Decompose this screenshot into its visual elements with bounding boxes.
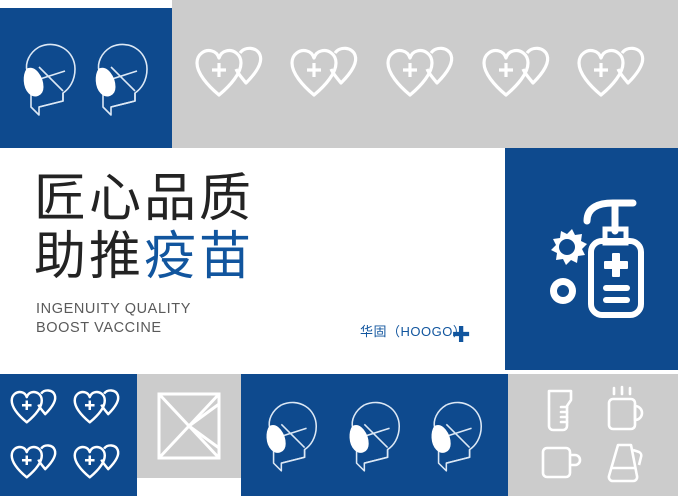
- english-subtitle: INGENUITY QUALITY BOOST VACCINE: [36, 300, 191, 338]
- top-gray-band: [172, 0, 678, 148]
- kettle-pot-icon: [603, 440, 649, 484]
- measuring-beaker-icon: [541, 386, 581, 432]
- double-heart-plus-icon: [480, 43, 562, 105]
- headline-line-2-dark: 助推: [34, 228, 144, 286]
- double-heart-plus-icon: [575, 43, 657, 105]
- masked-face-icon: [260, 395, 324, 475]
- masked-face-icon: [425, 395, 489, 475]
- bottom-masks-panel: [241, 374, 508, 496]
- headline-line-2-accent: 疫苗: [144, 228, 254, 286]
- masked-face-icon: [89, 37, 155, 119]
- bottom-gray-square-panel: [137, 374, 241, 478]
- bottom-vessels-panel: [508, 374, 678, 496]
- double-heart-plus-icon: [72, 441, 128, 485]
- double-heart-plus-icon: [193, 43, 275, 105]
- headline-line-2: 助推疫苗: [34, 228, 254, 286]
- sanitizer-blue-panel: [505, 148, 678, 370]
- top-left-blue-panel: [0, 8, 172, 148]
- steaming-mug-icon: [603, 385, 649, 433]
- double-heart-plus-icon: [9, 441, 65, 485]
- bottom-left-hearts-panel: [0, 374, 137, 496]
- double-heart-plus-icon: [384, 43, 466, 105]
- poster-canvas: 匠心品质 助推疫苗 INGENUITY QUALITY BOOST VACCIN…: [0, 0, 678, 496]
- broken-image-placeholder-icon: [155, 390, 223, 462]
- hand-sanitizer-pump-bottle-icon: [529, 189, 655, 329]
- masked-face-icon: [17, 37, 83, 119]
- masked-face-icon: [343, 395, 407, 475]
- brand-name: 华固（HOOGO）: [360, 321, 466, 340]
- headline-line-1: 匠心品质: [34, 170, 254, 228]
- double-heart-plus-icon: [72, 386, 128, 430]
- double-heart-plus-icon: [288, 43, 370, 105]
- plain-mug-icon: [538, 442, 584, 482]
- double-heart-plus-icon: [9, 386, 65, 430]
- headline-block: 匠心品质 助推疫苗: [34, 170, 254, 286]
